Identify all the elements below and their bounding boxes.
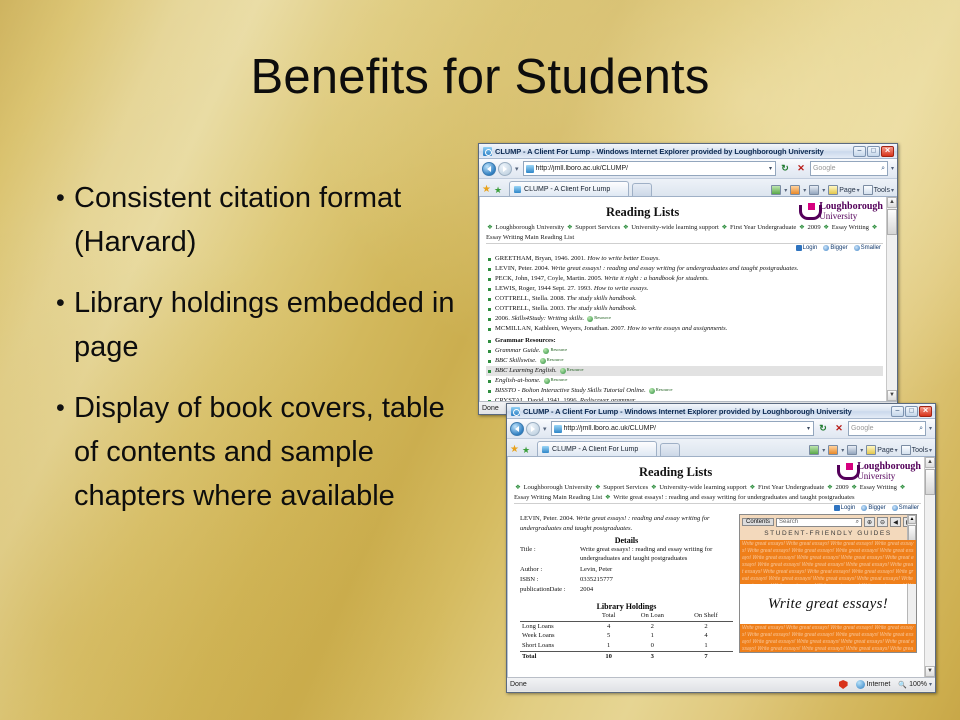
breadcrumb-item[interactable]: First Year Undergraduate: [728, 224, 798, 231]
home-icon[interactable]: [771, 185, 781, 195]
bullet-text: Library holdings embedded in page: [74, 281, 468, 369]
command-bar[interactable]: ▾ ▾ ▾ Page▾ Tools▾: [809, 445, 932, 456]
command-bar[interactable]: ▾ ▾ ▾ Page▾ Tools▾: [771, 185, 894, 196]
login-icon: [796, 245, 802, 251]
tab-bar[interactable]: ★ ★ CLUMP - A Client For Lump ▾ ▾ ▾ Page…: [479, 179, 897, 197]
page-header: Reading Lists Loughborough University: [486, 201, 883, 221]
title-bar: CLUMP - A Client For Lump - Windows Inte…: [479, 144, 897, 159]
citation-title: How to write essays.: [594, 285, 649, 292]
resource-dot-icon: [560, 368, 566, 374]
table-row: Week Loans514: [520, 631, 733, 641]
login-label: Login: [803, 245, 818, 251]
search-icon[interactable]: ⌕: [919, 425, 923, 433]
table-cell: 4: [592, 621, 626, 631]
breadcrumb-item[interactable]: Essay Writing: [858, 484, 898, 491]
tools-chevron-down-icon: ▾: [929, 447, 932, 454]
bullet-marker: •: [48, 176, 74, 264]
detail-key: ISBN :: [520, 575, 580, 585]
preview-toolbar[interactable]: Contents Search ⌕ ⊕ ⊖ ◀ ▶: [740, 515, 916, 529]
navigation-bar[interactable]: ▾ http://jmll.lboro.ac.uk/CLUMP/ ▾ ↻ ✕ G…: [479, 159, 897, 179]
university-logo: Loughborough University: [799, 201, 883, 221]
tools-menu-label: Tools: [912, 447, 928, 454]
column-header: [520, 611, 592, 621]
security-zone: Internet: [856, 680, 891, 689]
resource-badge[interactable]: Resource: [649, 387, 673, 394]
citation-title: Write it right : a handbook for students…: [604, 275, 709, 282]
column-header: On Loan: [626, 611, 679, 621]
table-row: ISBN :0335215777: [520, 575, 733, 585]
minimize-button[interactable]: –: [853, 146, 866, 157]
citation-author: LEWIS, Roger, 1944 Sept. 27. 1993.: [495, 285, 594, 292]
scroll-down-icon[interactable]: ▼: [887, 390, 897, 401]
table-cell: Long Loans: [520, 621, 592, 631]
browser-window-book-detail[interactable]: CLUMP - A Client For Lump - Windows Inte…: [506, 403, 936, 693]
university-logo: Loughborough University: [837, 461, 921, 481]
table-cell: 7: [679, 652, 733, 662]
preview-search-input[interactable]: Search ⌕: [776, 518, 862, 527]
breadcrumb-item[interactable]: Essay Writing Main Reading List: [514, 494, 604, 501]
list-item[interactable]: CRYSTAL, David, 1941. 1996. Rediscover g…: [486, 396, 883, 401]
preview-zoom-in-icon[interactable]: ⊕: [864, 517, 875, 527]
refresh-icon[interactable]: ↻: [816, 422, 830, 436]
page-header: Reading Lists Loughborough University: [514, 461, 921, 481]
breadcrumb-item[interactable]: University-wide learning support: [630, 224, 721, 231]
search-input[interactable]: Google ⌕: [848, 421, 926, 436]
list-item[interactable]: LEWIS, Roger, 1944 Sept. 27. 1993. How t…: [486, 284, 883, 294]
login-label: Login: [841, 505, 856, 511]
scroll-up-icon[interactable]: ▲: [925, 457, 935, 468]
detail-value: 2004: [580, 585, 733, 595]
bullet-marker: •: [48, 281, 74, 369]
print-icon[interactable]: [847, 445, 857, 455]
resource-label: Resource: [551, 377, 568, 384]
window-controls[interactable]: – □ ✕: [853, 146, 895, 157]
preview-prev-icon[interactable]: ◀: [890, 517, 901, 527]
title-bar: CLUMP - A Client For Lump - Windows Inte…: [507, 404, 935, 419]
details-heading: Details: [520, 536, 733, 545]
minimize-button[interactable]: –: [891, 406, 904, 417]
status-text: Done: [482, 405, 499, 412]
feeds-chevron-down-icon[interactable]: ▾: [803, 187, 806, 194]
bullet-text: Consistent citation format (Harvard): [74, 176, 468, 264]
security-shield-icon: [839, 680, 848, 689]
resource-label: Resource: [567, 367, 584, 374]
list-item[interactable]: Grammar Resources:: [486, 336, 883, 346]
citation-title: BBC Learning English.: [495, 367, 557, 374]
tab-clump[interactable]: CLUMP - A Client For Lump: [537, 441, 657, 456]
breadcrumb-item[interactable]: Essay Writing: [830, 224, 870, 231]
detail-value: Levin, Peter: [580, 565, 733, 575]
table-row: Long Loans422: [520, 621, 733, 631]
citation-list: GREETHAM, Bryan, 1946. 2001. How to writ…: [486, 254, 883, 401]
list-item[interactable]: English-at-home.Resource: [486, 376, 883, 386]
close-icon: ✕: [885, 148, 891, 155]
smaller-link[interactable]: Smaller: [854, 245, 881, 251]
citation-title: How to write essays and assignments.: [627, 325, 727, 332]
scroll-down-icon[interactable]: ▼: [925, 666, 935, 677]
page-heading: Reading Lists: [514, 461, 837, 480]
page-menu-button[interactable]: Page▾: [866, 445, 897, 455]
feeds-icon[interactable]: [828, 445, 838, 455]
tools-menu-button[interactable]: Tools▾: [863, 185, 894, 195]
breadcrumb-arrow-icon: ❖: [899, 484, 907, 491]
zoom-out-icon: [892, 505, 898, 511]
list-item[interactable]: BISSTO - Bolton Interactive Study Skills…: [486, 386, 883, 396]
cover-title-band: Write great essays!: [740, 584, 916, 624]
breadcrumb-arrow-icon: ❖: [594, 484, 602, 491]
page-chevron-down-icon: ▾: [895, 447, 898, 454]
login-icon: [834, 505, 840, 511]
cover-pattern-top: Write great essays! Write great essays! …: [740, 540, 916, 584]
breadcrumb-arrow-icon: ❖: [650, 484, 658, 491]
resource-label: Resource: [594, 315, 611, 322]
page-content: Reading Lists Loughborough University ❖ …: [480, 197, 897, 401]
book-series-label: STUDENT-FRIENDLY GUIDES: [740, 529, 916, 540]
zoom-in-icon: [861, 505, 867, 511]
table-row: publicationDate :2004: [520, 585, 733, 595]
window-title: CLUMP - A Client For Lump - Windows Inte…: [495, 147, 824, 156]
bullet-marker: •: [48, 386, 74, 518]
table-row: Title :Write great essays! : reading and…: [520, 545, 733, 565]
history-chevron-down-icon[interactable]: ▾: [542, 425, 549, 433]
tab-bar[interactable]: ★ ★ CLUMP - A Client For Lump ▾ ▾ ▾ Page…: [507, 439, 935, 457]
close-button[interactable]: ✕: [919, 406, 932, 417]
resource-dot-icon: [649, 388, 655, 394]
breadcrumb-arrow-icon: ❖: [486, 224, 494, 231]
citation-title: Write great essays! : reading and essay …: [551, 265, 798, 272]
zoom-level[interactable]: 🔍100%▾: [898, 681, 932, 689]
zoom-out-icon: [854, 245, 860, 251]
page-content: Reading Lists Loughborough University ❖ …: [508, 457, 935, 662]
page-chevron-down-icon: ▾: [857, 187, 860, 194]
citation-title: How to write better Essays.: [587, 255, 660, 262]
preview-scroll-up-icon[interactable]: ▲: [908, 515, 916, 524]
resource-label: Resource: [656, 387, 673, 394]
tools-icon: [863, 185, 873, 195]
minimize-icon: –: [896, 408, 900, 415]
tab-label: CLUMP - A Client For Lump: [552, 446, 638, 453]
table-cell: Total: [520, 652, 592, 662]
bigger-link[interactable]: Bigger: [823, 245, 847, 251]
resource-badge[interactable]: Resource: [540, 357, 564, 364]
breadcrumb-arrow-icon: ❖: [822, 224, 830, 231]
status-bar: Done Internet 🔍100%▾: [507, 677, 935, 691]
forward-button[interactable]: [526, 422, 540, 436]
citation-title: The study skills handbook.: [567, 305, 637, 312]
add-favorite-icon[interactable]: ★: [494, 184, 502, 196]
citation-title: Grammar Guide.: [495, 347, 540, 354]
search-placeholder: Google: [813, 165, 836, 172]
table-cell: 1: [679, 641, 733, 651]
logo-line-2: University: [857, 472, 921, 481]
internet-globe-icon: [856, 680, 865, 689]
tools-icon: [901, 445, 911, 455]
search-icon[interactable]: ⌕: [881, 165, 885, 173]
breadcrumb-arrow-icon: ❖: [514, 484, 522, 491]
ie-logo-icon: [483, 147, 492, 156]
page-title: Benefits for Students: [0, 52, 960, 104]
page-viewport: ▲ ▼ Reading Lists Loughborough Universit…: [479, 197, 897, 401]
minimize-icon: –: [858, 148, 862, 155]
window-title: CLUMP - A Client For Lump - Windows Inte…: [523, 407, 852, 416]
status-text: Done: [510, 681, 527, 688]
smaller-label: Smaller: [899, 505, 919, 511]
history-chevron-down-icon[interactable]: ▾: [514, 165, 521, 173]
book-detail-body: LEVIN, Peter. 2004. Write great essays! …: [514, 511, 921, 662]
book-preview-widget[interactable]: ▲ ▼ Contents Search ⌕ ⊕ ⊖ ◀: [739, 514, 917, 653]
list-item[interactable]: BBC Skillswise.Resource: [486, 356, 883, 366]
list-item[interactable]: Grammar Guide.Resource: [486, 346, 883, 356]
table-cell: 1: [626, 631, 679, 641]
breadcrumb-arrow-icon: ❖: [826, 484, 834, 491]
bigger-label: Bigger: [830, 245, 847, 251]
search-chevron-down-icon[interactable]: ▾: [890, 165, 894, 172]
close-button[interactable]: ✕: [881, 146, 894, 157]
tools-chevron-down-icon: ▾: [891, 187, 894, 194]
scroll-thumb[interactable]: [925, 469, 935, 495]
maximize-button[interactable]: □: [905, 406, 918, 417]
navigation-bar[interactable]: ▾ http://jmll.lboro.ac.uk/CLUMP/ ▾ ↻ ✕ G…: [507, 419, 935, 439]
table-cell: 5: [592, 631, 626, 641]
tab-clump[interactable]: CLUMP - A Client For Lump: [509, 181, 629, 196]
table-cell: Week Loans: [520, 631, 592, 641]
breadcrumb-item[interactable]: Write great essays! : reading and essay …: [612, 494, 855, 501]
maximize-icon: □: [909, 408, 913, 415]
breadcrumb-item[interactable]: Support Services: [574, 224, 622, 231]
bigger-label: Bigger: [868, 505, 885, 511]
detail-key: publicationDate :: [520, 585, 580, 595]
citation-author: 2006.: [495, 315, 511, 322]
url-text: http://jmll.lboro.ac.uk/CLUMP/: [536, 165, 629, 172]
breadcrumb[interactable]: ❖ Loughborough University ❖ Support Serv…: [514, 483, 921, 504]
list-item[interactable]: GREETHAM, Bryan, 1946. 2001. How to writ…: [486, 254, 883, 264]
page-tools[interactable]: Login Bigger Smaller: [514, 504, 921, 511]
breadcrumb-item[interactable]: 2009: [834, 484, 850, 491]
zoom-in-icon: [823, 245, 829, 251]
citation-author: COTTRELL, Stella. 2008.: [495, 295, 567, 302]
table-cell: 4: [679, 631, 733, 641]
citation-title: The study skills handbook.: [567, 295, 637, 302]
breadcrumb[interactable]: ❖ Loughborough University ❖ Support Serv…: [486, 223, 883, 244]
table-cell: Short Loans: [520, 641, 592, 651]
preview-search-icon[interactable]: ⌕: [856, 519, 859, 526]
favorites-star-icon[interactable]: ★: [510, 444, 519, 456]
close-icon: ✕: [923, 408, 929, 415]
table-cell: 3: [626, 652, 679, 662]
citation-author: LEVIN, Peter. 2004.: [495, 265, 551, 272]
tools-menu-label: Tools: [874, 187, 890, 194]
citation-title: English-at-home.: [495, 377, 541, 384]
print-icon[interactable]: [809, 185, 819, 195]
page-menu-label: Page: [877, 447, 893, 454]
citation-title: BISSTO - Bolton Interactive Study Skills…: [495, 387, 646, 394]
detail-key: Title :: [520, 545, 580, 565]
address-chevron-down-icon[interactable]: ▾: [769, 165, 773, 172]
search-placeholder: Google: [851, 425, 874, 432]
page-scrollbar[interactable]: ▲ ▼: [924, 457, 935, 677]
zone-label: Internet: [867, 681, 891, 688]
page-heading: Reading Lists: [486, 201, 799, 220]
table-cell: 2: [679, 621, 733, 631]
preview-zoom-out-icon[interactable]: ⊖: [877, 517, 888, 527]
citation-title: Rediscover grammar.: [580, 397, 636, 401]
favicon-icon: [526, 165, 534, 173]
citation-author: Grammar Resources:: [495, 337, 556, 344]
maximize-button[interactable]: □: [867, 146, 880, 157]
holdings-heading: Library Holdings: [520, 602, 733, 611]
breadcrumb-arrow-icon: ❖: [566, 224, 574, 231]
citation-author: MCMILLAN, Kathleen, Weyers, Jonathan. 20…: [495, 325, 627, 332]
column-header: Total: [592, 611, 626, 621]
record-summary: LEVIN, Peter. 2004. Write great essays! …: [520, 514, 733, 534]
url-text: http://jmll.lboro.ac.uk/CLUMP/: [564, 425, 657, 432]
record-author: LEVIN, Peter. 2004.: [520, 515, 574, 522]
tools-menu-button[interactable]: Tools▾: [901, 445, 932, 455]
smaller-link[interactable]: Smaller: [892, 505, 919, 511]
page-menu-button[interactable]: Page▾: [828, 185, 859, 195]
resource-dot-icon: [543, 348, 549, 354]
logo-mark-icon: [799, 203, 816, 220]
login-link[interactable]: Login: [834, 505, 856, 511]
resource-badge[interactable]: Resource: [544, 377, 568, 384]
table-cell: 1: [592, 641, 626, 651]
breadcrumb-item[interactable]: Loughborough University: [522, 484, 594, 491]
browser-window-reading-list[interactable]: CLUMP - A Client For Lump - Windows Inte…: [478, 143, 898, 415]
page-tools[interactable]: Login Bigger Smaller: [486, 244, 883, 251]
breadcrumb-arrow-icon: ❖: [798, 224, 806, 231]
list-item[interactable]: LEVIN, Peter. 2004. Write great essays! …: [486, 264, 883, 274]
page-scrollbar[interactable]: ▲ ▼: [886, 197, 897, 401]
list-item[interactable]: PECK, John, 1947, Coyle, Martin. 2005. W…: [486, 274, 883, 284]
table-header-row: TotalOn LoanOn Shelf: [520, 611, 733, 621]
resource-label: Resource: [547, 357, 564, 364]
print-chevron-down-icon[interactable]: ▾: [822, 187, 825, 194]
table-cell: 10: [592, 652, 626, 662]
citation-author: CRYSTAL, David, 1941. 1996.: [495, 397, 580, 401]
list-item[interactable]: COTTRELL, Stella. 2003. The study skills…: [486, 304, 883, 314]
scroll-up-icon[interactable]: ▲: [887, 197, 897, 208]
smaller-label: Smaller: [861, 245, 881, 251]
preview-search-placeholder: Search: [779, 519, 798, 525]
back-button[interactable]: [510, 422, 524, 436]
list-item[interactable]: BBC Learning English.Resource: [486, 366, 883, 376]
add-favorite-icon[interactable]: ★: [522, 444, 530, 456]
table-row: Author :Levin, Peter: [520, 565, 733, 575]
forward-button[interactable]: [498, 162, 512, 176]
zoom-label: 100%: [909, 681, 927, 688]
home-chevron-down-icon[interactable]: ▾: [822, 447, 825, 454]
stop-icon[interactable]: ✕: [832, 422, 846, 436]
feeds-chevron-down-icon[interactable]: ▾: [841, 447, 844, 454]
detail-value: 0335215777: [580, 575, 733, 585]
citation-title: BBC Skillswise.: [495, 357, 537, 364]
list-item[interactable]: COTTRELL, Stella. 2008. The study skills…: [486, 294, 883, 304]
resource-dot-icon: [544, 378, 550, 384]
table-row: Short Loans101: [520, 641, 733, 651]
book-cover-title: Write great essays!: [768, 596, 888, 613]
tab-label: CLUMP - A Client For Lump: [524, 186, 610, 193]
list-item[interactable]: MCMILLAN, Kathleen, Weyers, Jonathan. 20…: [486, 324, 883, 334]
detail-key: Author :: [520, 565, 580, 575]
breadcrumb-item[interactable]: First Year Undergraduate: [756, 484, 826, 491]
table-cell: 0: [626, 641, 679, 651]
home-icon[interactable]: [809, 445, 819, 455]
resource-badge[interactable]: Resource: [587, 315, 611, 322]
breadcrumb-arrow-icon: ❖: [604, 494, 612, 501]
new-tab-button[interactable]: [660, 443, 680, 456]
logo-line-2: University: [819, 212, 883, 221]
list-item[interactable]: 2006. Skills4Study: Writing skills.Resou…: [486, 314, 883, 324]
breadcrumb-item[interactable]: University-wide learning support: [658, 484, 749, 491]
breadcrumb-arrow-icon: ❖: [850, 484, 858, 491]
page-icon: [828, 185, 838, 195]
page-viewport: ▲ ▼ Reading Lists Loughborough Universit…: [507, 457, 935, 677]
bullet-text: Display of book covers, table of content…: [74, 386, 468, 518]
address-bar[interactable]: http://jmll.lboro.ac.uk/CLUMP/ ▾: [523, 161, 776, 176]
table-total-row: Total1037: [520, 652, 733, 662]
breadcrumb-item[interactable]: Support Services: [602, 484, 650, 491]
search-chevron-down-icon[interactable]: ▾: [928, 425, 932, 432]
back-button[interactable]: [482, 162, 496, 176]
citation-author: PECK, John, 1947, Coyle, Martin. 2005.: [495, 275, 604, 282]
contents-button[interactable]: Contents: [742, 518, 774, 526]
table-cell: 2: [626, 621, 679, 631]
refresh-icon[interactable]: ↻: [778, 162, 792, 176]
tab-favicon-icon: [542, 446, 549, 453]
bigger-link[interactable]: Bigger: [861, 505, 885, 511]
login-link[interactable]: Login: [796, 245, 818, 251]
ie-logo-icon: [511, 407, 520, 416]
tab-favicon-icon: [514, 186, 521, 193]
column-header: On Shelf: [679, 611, 733, 621]
print-chevron-down-icon[interactable]: ▾: [860, 447, 863, 454]
home-chevron-down-icon[interactable]: ▾: [784, 187, 787, 194]
resource-badge[interactable]: Resource: [560, 367, 584, 374]
page-menu-label: Page: [839, 187, 855, 194]
favorites-star-icon[interactable]: ★: [482, 184, 491, 196]
cover-pattern-bottom: Write great essays! Write great essays! …: [740, 624, 916, 652]
new-tab-button[interactable]: [632, 183, 652, 196]
breadcrumb-item[interactable]: 2009: [806, 224, 822, 231]
holdings-table: TotalOn LoanOn Shelf Long Loans422Week L…: [520, 611, 733, 662]
zoom-icon: 🔍: [898, 681, 907, 689]
page-icon: [866, 445, 876, 455]
feeds-icon[interactable]: [790, 185, 800, 195]
stop-icon[interactable]: ✕: [794, 162, 808, 176]
resource-dot-icon: [540, 358, 546, 364]
zoom-chevron-down-icon[interactable]: ▾: [929, 681, 932, 688]
breadcrumb-item[interactable]: Loughborough University: [494, 224, 566, 231]
resource-dot-icon: [587, 316, 593, 322]
citation-title: Skills4Study: Writing skills.: [511, 315, 584, 322]
details-table: Title :Write great essays! : reading and…: [520, 545, 733, 596]
breadcrumb-arrow-icon: ❖: [871, 224, 879, 231]
maximize-icon: □: [871, 148, 875, 155]
list-item: • Display of book covers, table of conte…: [48, 386, 468, 518]
address-chevron-down-icon[interactable]: ▾: [807, 425, 811, 432]
bullet-list: • Consistent citation format (Harvard) •…: [48, 176, 468, 535]
breadcrumb-arrow-icon: ❖: [622, 224, 630, 231]
favicon-icon: [554, 425, 562, 433]
search-input[interactable]: Google ⌕: [810, 161, 888, 176]
breadcrumb-item[interactable]: Essay Writing Main Reading List: [486, 234, 574, 241]
address-bar[interactable]: http://jmll.lboro.ac.uk/CLUMP/ ▾: [551, 421, 814, 436]
resource-badge[interactable]: Resource: [543, 347, 567, 354]
window-controls[interactable]: – □ ✕: [891, 406, 933, 417]
citation-author: GREETHAM, Bryan, 1946. 2001.: [495, 255, 587, 262]
scroll-thumb[interactable]: [887, 209, 897, 235]
logo-mark-icon: [837, 463, 854, 480]
